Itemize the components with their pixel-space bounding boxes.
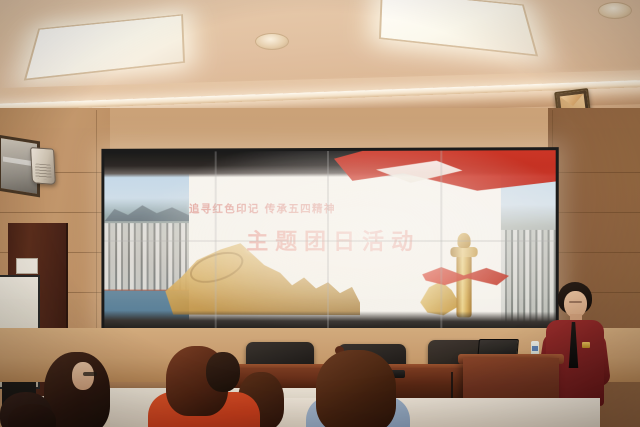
glasses-icon bbox=[83, 372, 97, 376]
attendee-head bbox=[316, 350, 396, 427]
huabiao-pillar-graphic bbox=[446, 231, 480, 324]
pillar-shaft bbox=[456, 255, 471, 317]
photo-mountain bbox=[104, 200, 189, 222]
video-wall-bezel-seam bbox=[104, 240, 555, 242]
ceiling-downlight-2 bbox=[598, 2, 632, 19]
lapel-pin-icon bbox=[582, 342, 590, 348]
attendee-face bbox=[72, 362, 94, 390]
led-video-wall[interactable]: 追寻红色印记 传承五四精神 主题团日活动 bbox=[101, 147, 558, 335]
attendee-head bbox=[206, 352, 240, 392]
conference-room-photo: 追寻红色印记 传承五四精神 主题团日活动 bbox=[0, 0, 640, 427]
wall-note bbox=[16, 258, 38, 274]
slide-subtitle: 追寻红色印记 传承五四精神 bbox=[189, 201, 336, 216]
ceiling-downlight-1 bbox=[255, 33, 289, 50]
wall-speaker-icon bbox=[30, 147, 56, 185]
pillar-cap bbox=[450, 247, 477, 257]
